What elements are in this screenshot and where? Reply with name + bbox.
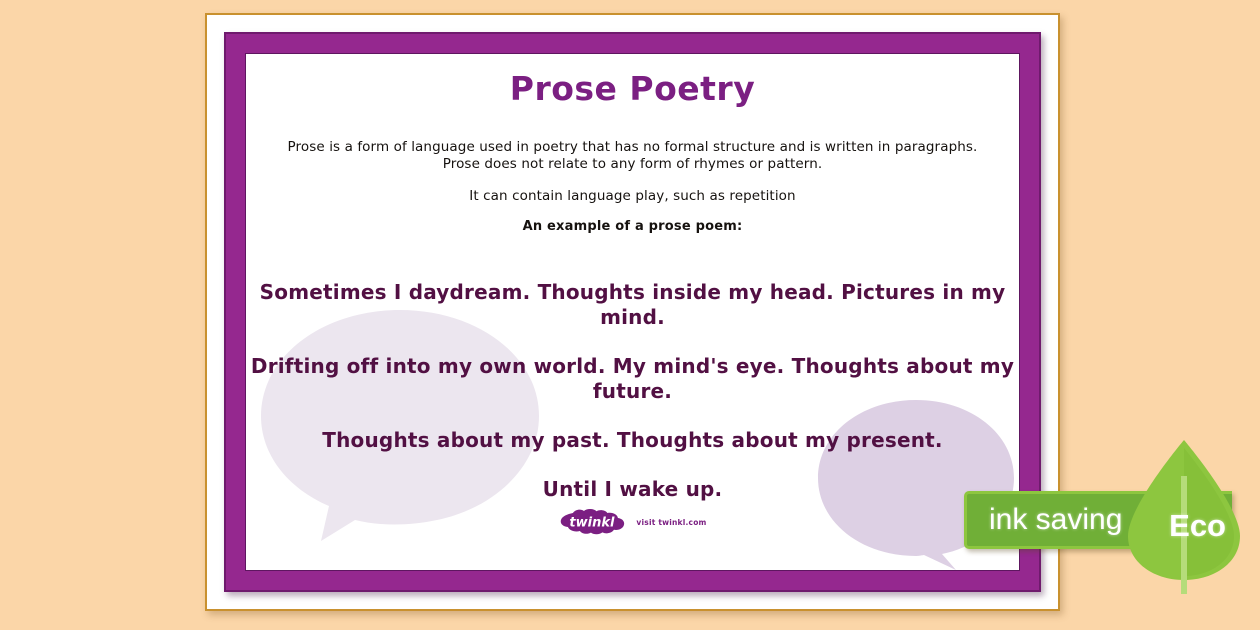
page-title: Prose Poetry — [245, 69, 1020, 109]
svg-text:twinkl: twinkl — [569, 516, 615, 531]
eco-ink-saving-badge: ink saving Eco — [964, 436, 1260, 596]
poem-line: Until I wake up. — [245, 477, 1020, 502]
poster-purple-frame: Prose Poetry Prose is a form of language… — [224, 32, 1041, 592]
ink-saving-label: ink saving — [989, 503, 1122, 537]
intro-block: Prose is a form of language used in poet… — [245, 139, 1020, 235]
twinkl-logo: twinkl visit twinkl.com — [558, 509, 706, 535]
poster-inner-page: Prose Poetry Prose is a form of language… — [245, 53, 1020, 571]
eco-label: Eco — [1169, 508, 1226, 544]
prose-poem: Sometimes I daydream. Thoughts inside my… — [245, 280, 1020, 502]
twinkl-url-text: visit twinkl.com — [636, 518, 706, 527]
poem-line: Thoughts about my past. Thoughts about m… — [245, 428, 1020, 453]
poster-page: Prose Poetry Prose is a form of language… — [205, 13, 1060, 611]
twinkl-cloud-icon: twinkl — [558, 509, 630, 535]
poster-content: Prose Poetry Prose is a form of language… — [245, 53, 1020, 502]
poem-line: Sometimes I daydream. Thoughts inside my… — [245, 280, 1020, 330]
poem-line: Drifting off into my own world. My mind'… — [245, 354, 1020, 404]
intro-paragraph: Prose is a form of language used in poet… — [283, 139, 983, 175]
intro-second-line: It can contain language play, such as re… — [283, 188, 983, 204]
intro-lead-in: An example of a prose poem: — [245, 219, 1020, 234]
